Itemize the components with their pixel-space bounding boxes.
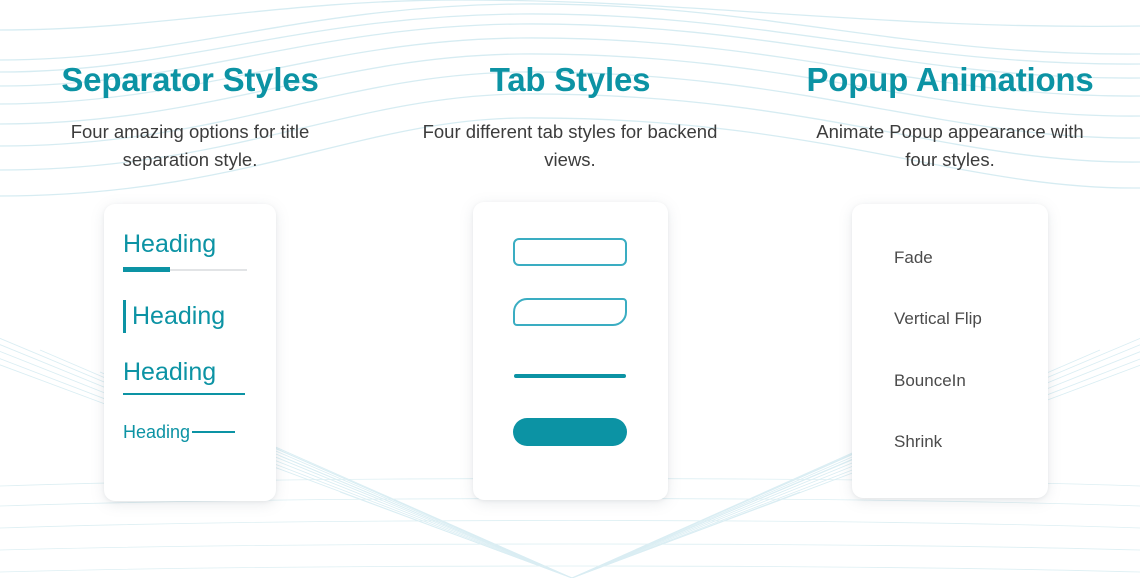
tab-style-outlined-rect[interactable] — [513, 238, 627, 266]
popup-animation-shrink[interactable]: Shrink — [894, 432, 942, 452]
separator-styles-card: Heading Heading Heading Heading — [104, 204, 276, 501]
tab-style-leaf-corners[interactable] — [513, 298, 627, 326]
tab-style-underline-bar[interactable] — [514, 374, 626, 378]
column-title-tab-styles: Tab Styles — [490, 62, 651, 98]
separator-label: Heading — [123, 422, 190, 443]
popup-animation-fade[interactable]: Fade — [894, 248, 933, 268]
column-title-popup-animations: Popup Animations — [806, 62, 1093, 98]
column-separator-styles: Separator Styles Four amazing options fo… — [0, 62, 380, 578]
separator-label: Heading — [123, 358, 216, 387]
separator-rule-inline — [192, 431, 235, 433]
column-description-separator-styles: Four amazing options for title separatio… — [40, 118, 340, 174]
separator-style-full-underline[interactable]: Heading — [104, 358, 276, 395]
separator-label: Heading — [123, 230, 216, 259]
separator-vertical-bar — [123, 300, 126, 333]
column-tab-styles: Tab Styles Four different tab styles for… — [380, 62, 760, 578]
separator-style-underline-accent[interactable]: Heading — [104, 230, 276, 273]
popup-animations-card: Fade Vertical Flip BounceIn Shrink — [852, 204, 1048, 498]
separator-label: Heading — [132, 302, 225, 331]
separator-rule-accent — [123, 267, 170, 272]
separator-style-left-bar[interactable]: Heading — [104, 300, 276, 333]
column-description-tab-styles: Four different tab styles for backend vi… — [420, 118, 720, 174]
tab-styles-card — [473, 202, 668, 500]
separator-rule-accent-segment — [123, 266, 247, 273]
feature-columns: Separator Styles Four amazing options fo… — [0, 0, 1140, 578]
separator-style-inline-line[interactable]: Heading — [104, 422, 276, 443]
popup-animation-vertical-flip[interactable]: Vertical Flip — [894, 309, 982, 329]
separator-rule-full — [123, 393, 245, 395]
tab-style-filled-pill[interactable] — [513, 418, 627, 446]
column-title-separator-styles: Separator Styles — [61, 62, 318, 98]
popup-animation-bouncein[interactable]: BounceIn — [894, 371, 966, 391]
column-popup-animations: Popup Animations Animate Popup appearanc… — [760, 62, 1140, 578]
column-description-popup-animations: Animate Popup appearance with four style… — [800, 118, 1100, 174]
